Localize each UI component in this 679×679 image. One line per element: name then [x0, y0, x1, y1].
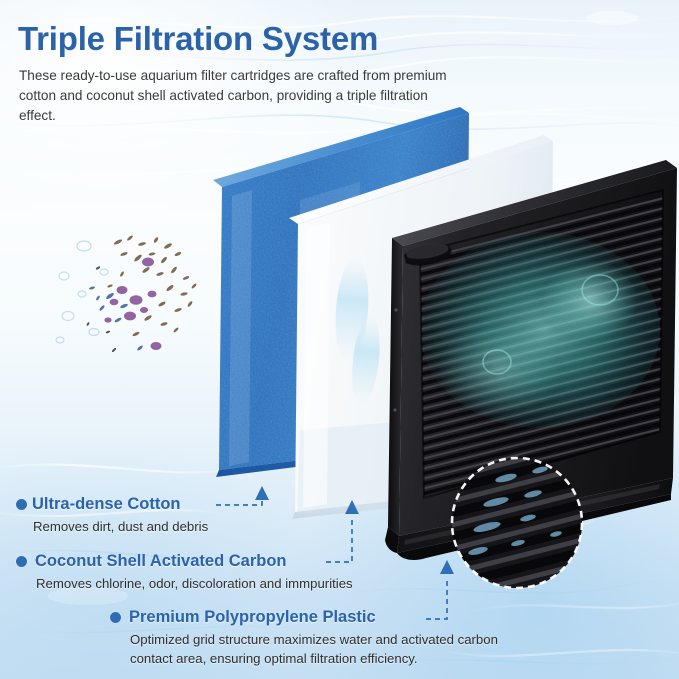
page-description: These ready-to-use aquarium filter cartr…: [19, 66, 449, 126]
callout-ultra-dense-cotton: Ultra-dense Cotton Removes dirt, dust an…: [16, 495, 208, 537]
infographic-canvas: Triple Filtration System These ready-to-…: [0, 0, 679, 679]
callout-title: Ultra-dense Cotton: [32, 495, 181, 514]
page-title: Triple Filtration System: [18, 20, 378, 58]
callout-subtitle: Removes dirt, dust and debris: [33, 518, 208, 537]
bullet-icon: [16, 556, 27, 567]
callout-premium-polypropylene-plastic: Premium Polypropylene Plastic Optimized …: [110, 608, 530, 668]
callout-subtitle: Removes chlorine, odor, discoloration an…: [36, 575, 353, 594]
callout-coconut-shell-activated-carbon: Coconut Shell Activated Carbon Removes c…: [16, 552, 353, 594]
callout-title: Premium Polypropylene Plastic: [129, 608, 376, 627]
callout-title: Coconut Shell Activated Carbon: [35, 552, 287, 571]
bullet-icon: [16, 499, 27, 510]
dirt-particles-illustration: [52, 228, 242, 358]
bullet-icon: [110, 612, 121, 623]
callout-subtitle: Optimized grid structure maximizes water…: [130, 631, 530, 668]
